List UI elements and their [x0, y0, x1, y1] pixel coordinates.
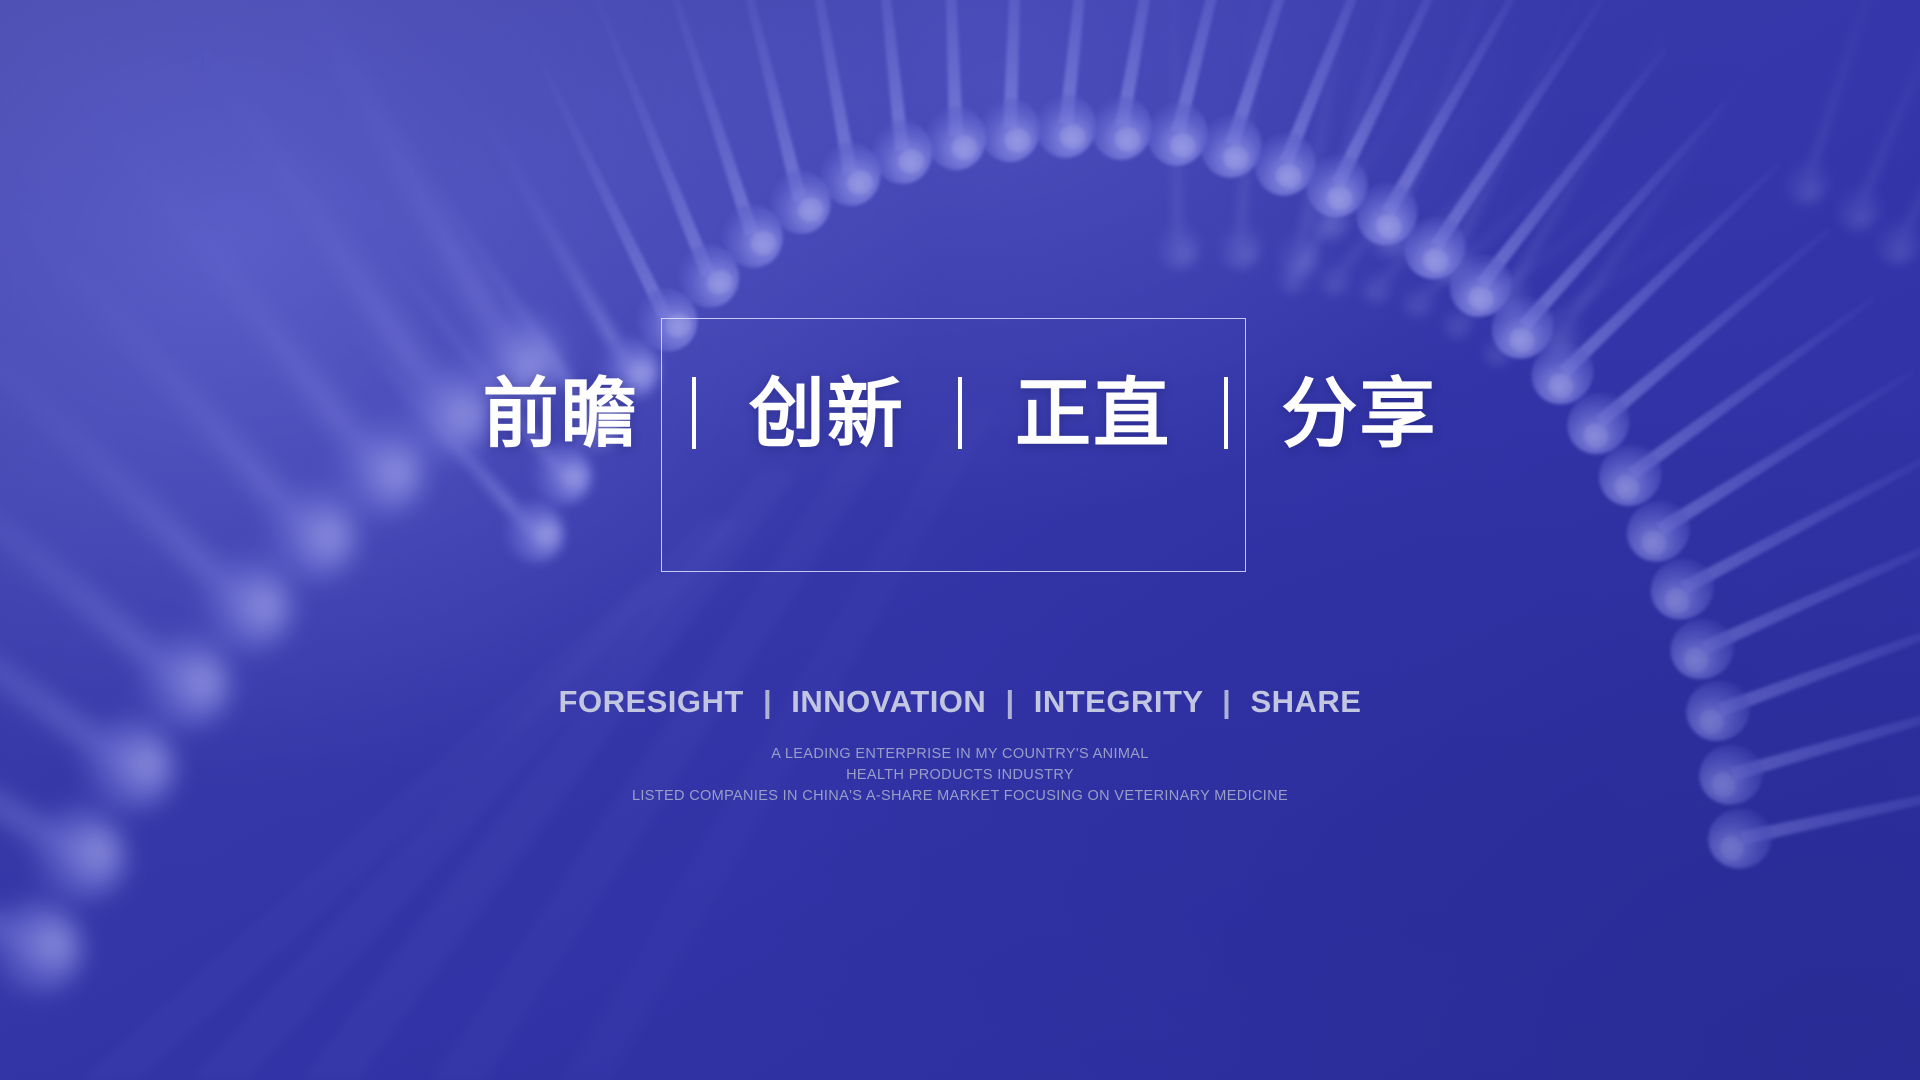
headline-word-4: 分享 [1281, 377, 1437, 453]
headline: 前瞻 创新 正直 分享 [0, 372, 1920, 453]
tagline-separator-1: | [763, 684, 772, 719]
company-description: A LEADING ENTERPRISE IN MY COUNTRY'S ANI… [0, 744, 1920, 807]
tagline-word-1: FORESIGHT [559, 684, 744, 719]
company-description-line-3: LISTED COMPANIES IN CHINA'S A-SHARE MARK… [0, 786, 1920, 807]
tagline-word-2: INNOVATION [791, 684, 986, 719]
headline-word-1: 前瞻 [483, 377, 639, 453]
headline-separator-3 [1224, 377, 1228, 449]
tagline-separator-2: | [1005, 684, 1014, 719]
headline-word-2: 创新 [749, 377, 905, 453]
hero-content: 前瞻 创新 正直 分享 FORESIGHT | INNOVATION | INT… [0, 0, 1920, 1080]
tagline-word-3: INTEGRITY [1034, 684, 1203, 719]
company-description-line-2: HEALTH PRODUCTS INDUSTRY [0, 765, 1920, 786]
headline-separator-2 [958, 377, 962, 449]
tagline-separator-3: | [1222, 684, 1231, 719]
tagline: FORESIGHT | INNOVATION | INTEGRITY | SHA… [0, 684, 1920, 720]
headline-word-3: 正直 [1015, 377, 1171, 453]
company-description-line-1: A LEADING ENTERPRISE IN MY COUNTRY'S ANI… [0, 744, 1920, 765]
tagline-word-4: SHARE [1250, 684, 1361, 719]
headline-separator-1 [692, 377, 696, 449]
slide-canvas: 前瞻 创新 正直 分享 FORESIGHT | INNOVATION | INT… [0, 0, 1920, 1080]
